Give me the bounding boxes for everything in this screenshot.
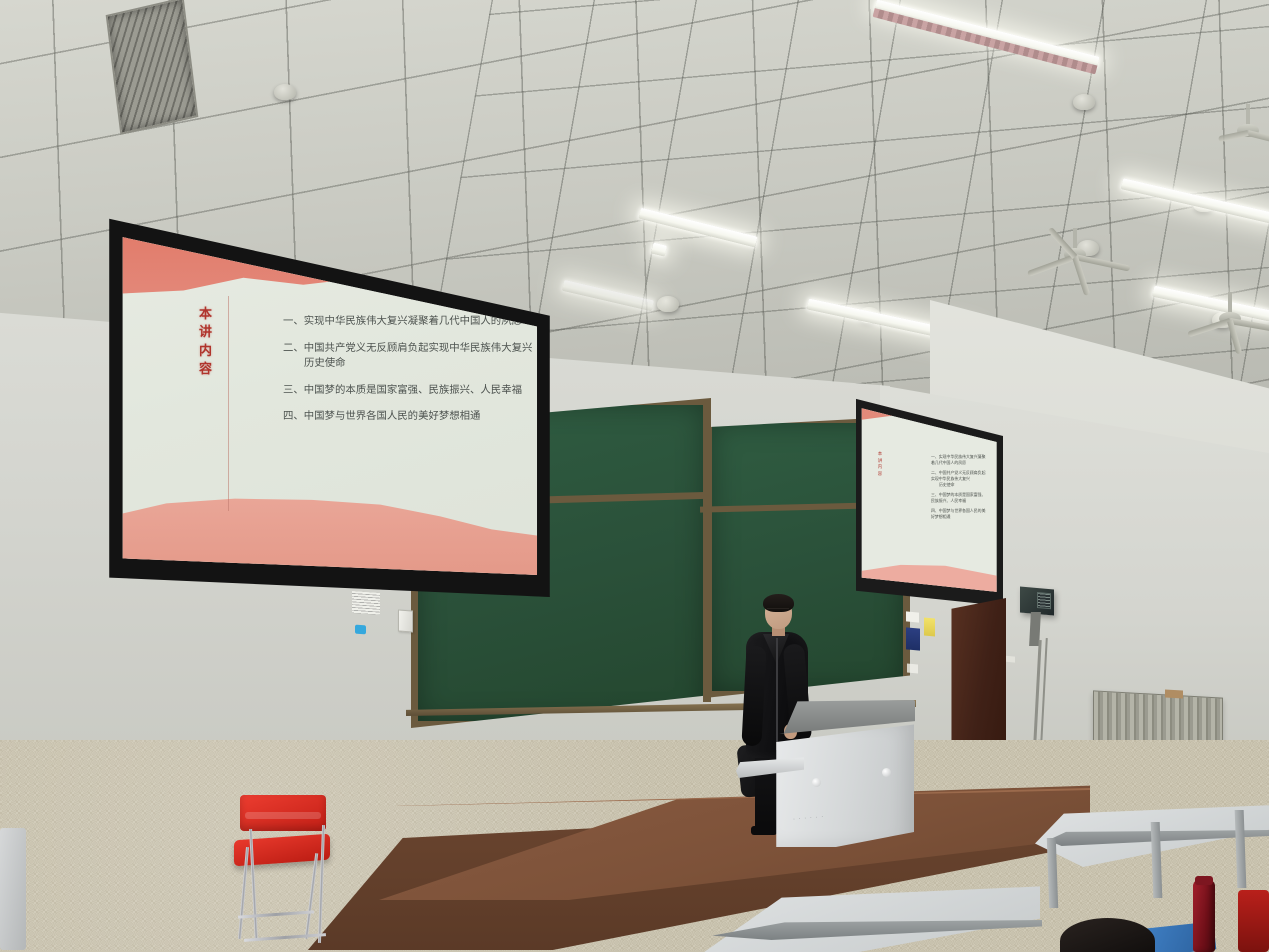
presenter-zipper [776,638,778,750]
slide-list-item: 二、中国共产党义无反顾肩负起实现中华民族伟大复兴 历史使命 [283,341,535,372]
wall-notice-paper [352,591,380,615]
corner-object [0,828,26,950]
eyeglasses-icon [767,608,789,613]
slide-vertical-title: 本讲内容 [193,306,219,380]
blackboard-divider-vertical [703,402,711,702]
smoke-detector-icon [274,84,296,100]
slide-item-number: 一、 [283,315,304,327]
ceiling-fan-icon [1218,104,1269,144]
ceiling-fan-icon [1030,228,1120,278]
slide-outline-list-secondary: 一、实现中华民族伟大复兴凝聚着几代中国人的夙愿 二、中国共产党义无反顾肩负起实现… [891,454,989,524]
slide-item-number: 二、 [283,342,304,354]
slide-vertical-title-secondary: 本讲内容 [876,452,884,478]
slide-item-number: 四、 [931,508,939,513]
ceiling-fan-icon [1190,292,1269,338]
lecture-hall-photo: 本讲内容 一、实现中华民族伟大复兴凝聚着几代中国人的夙愿 二、中国共产党义无反顾… [0,0,1269,952]
slide-list-item: 三、中国梦的本质是国家富强、民族振兴、人民幸福 [931,492,989,504]
lectern-lock-icon [882,768,891,777]
red-thermos [1193,880,1215,952]
red-chair[interactable] [232,795,337,945]
radiator-cap [1165,690,1183,699]
slide-item-text: 中国梦与世界各国人民的美好梦想相通 [931,508,985,519]
speaker-grill-icon [1037,592,1051,609]
white-notice-sign [906,611,919,622]
slide-item-number: 一、 [931,454,939,459]
thermos-cap [1195,876,1213,885]
slide-item-text-wrap: 历史使命 [931,482,989,488]
chair-leg [305,853,318,939]
slide-item-text: 中国共产党义无反顾肩负起实现中华民族伟大复兴 [931,470,985,481]
chair-foot-rail [238,910,314,918]
blue-notice-sign [906,627,920,650]
slide-list-item: 四、中国梦与世界各国人民的美好梦想相通 [283,409,535,424]
slide-item-number: 三、 [931,492,939,497]
slide-outline-list: 一、实现中华民族伟大复兴凝聚着几代中国人的夙愿 二、中国共产党义无反顾肩负起实现… [243,314,535,435]
yellow-notice-sign [924,618,935,637]
slide-list-item: 四、中国梦与世界各国人民的美好梦想相通 [931,508,989,520]
slide-item-number: 三、 [283,384,304,396]
slide-item-text-wrap: 历史使命 [283,356,535,371]
slide-item-text: 中国共产党义无反顾肩负起实现中华民族伟大复兴 [304,342,533,354]
slide-item-text: 实现中华民族伟大复兴凝聚着几代中国人的夙愿 [931,454,985,465]
smoke-detector-icon [1073,94,1095,110]
chair-backrest [240,795,326,831]
slide-item-text: 实现中华民族伟大复兴凝聚着几代中国人的夙愿 [304,315,522,327]
slide-divider-line [228,296,229,511]
presenter-shoe [751,826,777,835]
smoke-detector-icon [657,296,679,312]
air-vent-icon [106,0,199,135]
slide-item-number: 四、 [283,410,304,422]
slide-list-item: 一、实现中华民族伟大复兴凝聚着几代中国人的夙愿 [931,454,989,466]
slide-item-text: 中国梦的本质是国家富强、民族振兴、人民幸福 [304,384,522,396]
blue-sticker-icon [355,625,366,635]
white-notice-sign [907,664,918,674]
slide-item-number: 二、 [931,470,939,475]
slide-list-item: 二、中国共产党义无反顾肩负起实现中华民族伟大复兴 历史使命 [931,470,989,488]
lectern-body [772,722,914,847]
slide-item-text: 中国梦的本质是国家富强、民族振兴、人民幸福 [931,492,985,503]
foreground-chair [1238,890,1269,952]
slide-list-item: 三、中国梦的本质是国家富强、民族振兴、人民幸福 [283,383,535,398]
lectern-lock-icon [812,778,821,787]
light-switch-panel[interactable] [398,609,413,632]
slide-item-text: 中国梦与世界各国人民的美好梦想相通 [304,410,481,422]
